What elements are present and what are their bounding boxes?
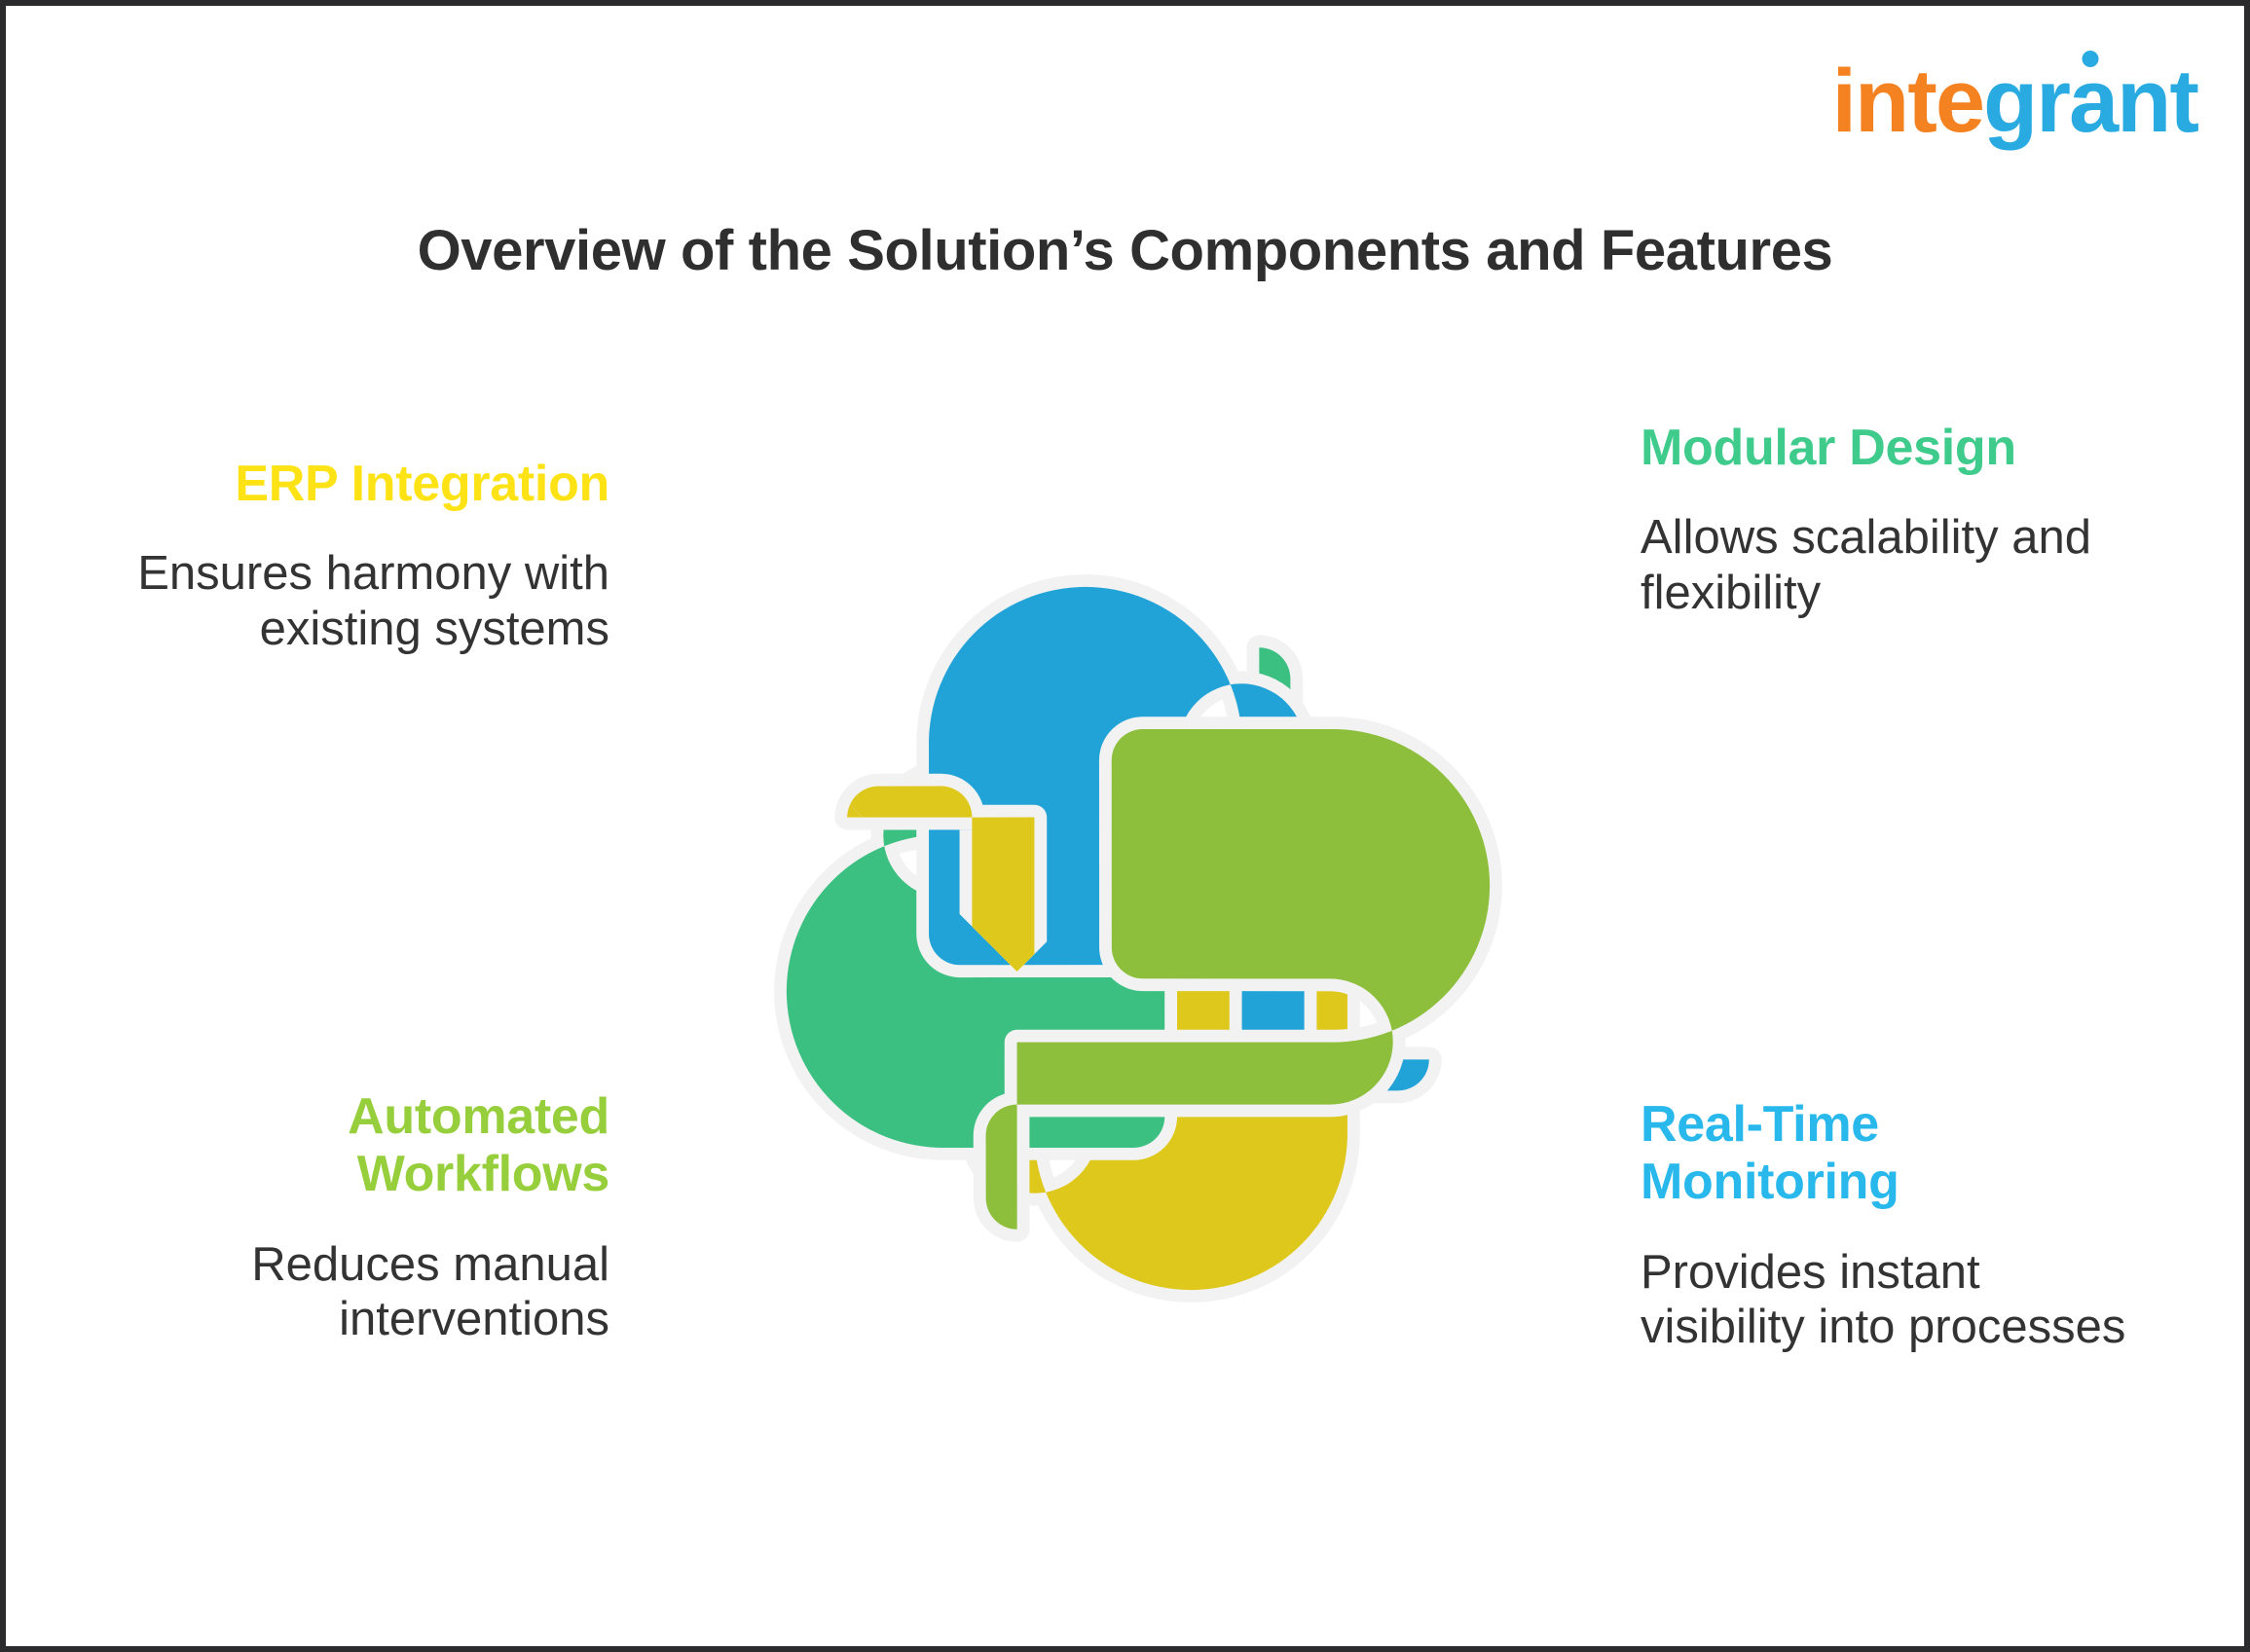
feature-body-real-time-monitoring: Provides instant visibility into process… bbox=[1641, 1245, 2147, 1356]
feature-block-real-time-monitoring: Real-Time Monitoring Provides instant vi… bbox=[1641, 1096, 2147, 1355]
feature-heading-automated-workflows: Automated Workflows bbox=[103, 1088, 609, 1204]
feature-heading-real-time-monitoring: Real-Time Monitoring bbox=[1641, 1096, 2147, 1212]
page-title: Overview of the Solution’s Components an… bbox=[6, 218, 2244, 283]
feature-block-erp-integration: ERP Integration Ensures harmony with exi… bbox=[103, 456, 609, 657]
feature-body-automated-workflows: Reduces manual interventions bbox=[103, 1237, 609, 1348]
feature-heading-erp-integration: ERP Integration bbox=[103, 456, 609, 513]
feature-body-modular-design: Allows scalability and flexibility bbox=[1641, 510, 2147, 621]
feature-heading-modular-design: Modular Design bbox=[1641, 420, 2147, 477]
logo-dot-icon bbox=[2083, 51, 2099, 67]
feature-block-automated-workflows: Automated Workflows Reduces manual inter… bbox=[103, 1088, 609, 1347]
logo-text-secondary-wrap: grant bbox=[1983, 56, 2197, 146]
interlocking-knot-graphic bbox=[671, 471, 1605, 1406]
feature-body-erp-integration: Ensures harmony with existing systems bbox=[103, 546, 609, 657]
logo-text-primary: inte bbox=[1831, 52, 1983, 151]
integrant-logo: integrant bbox=[1831, 56, 2197, 146]
infographic-canvas: integrant Overview of the Solution’s Com… bbox=[0, 0, 2250, 1652]
feature-block-modular-design: Modular Design Allows scalability and fl… bbox=[1641, 420, 2147, 621]
